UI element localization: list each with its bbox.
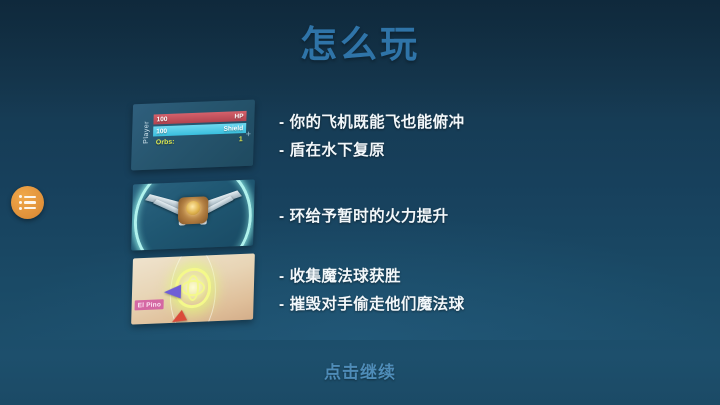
plus-icon: + [246, 130, 252, 139]
instruction-text: 摧毁对手偷走他们魔法球 [290, 296, 465, 313]
list-menu-icon [19, 193, 36, 212]
instruction-line: -你的飞机既能飞也能俯冲 [279, 110, 464, 132]
instruction-text: 你的飞机既能飞也能俯冲 [290, 114, 465, 131]
instruction-line: -收集魔法球获胜 [279, 264, 464, 286]
menu-button[interactable] [11, 186, 44, 219]
instruction-lines: -你的飞机既能飞也能俯冲 -盾在水下复原 [279, 110, 464, 160]
hud-hp-value: 100 [156, 115, 167, 122]
bullet-dash: - [279, 268, 285, 285]
bullet-dash: - [279, 208, 285, 225]
page-title: 怎么玩 [0, 14, 720, 68]
instruction-row: El Pino -收集魔法球获胜 -摧毁对手偷走他们魔法球 [128, 252, 464, 326]
bullet-dash: - [279, 114, 285, 131]
hud-shield-value: 100 [156, 127, 167, 134]
hud-orbs-value: 1 [239, 136, 243, 143]
player-hud-thumbnail: Player 100 HP 100 Shield Orbs: 1 [128, 98, 260, 172]
instruction-text: 盾在水下复原 [290, 142, 385, 159]
orb-minimap-thumbnail: El Pino [128, 252, 260, 326]
instruction-lines: -收集魔法球获胜 -摧毁对手偷走他们魔法球 [279, 264, 464, 314]
instruction-line: -环给予暂时的火力提升 [279, 204, 449, 226]
hud-orbs-row: Orbs: 1 [153, 135, 246, 147]
instruction-row: -环给予暂时的火力提升 [128, 178, 449, 252]
continue-button[interactable]: 点击继续 [0, 358, 720, 383]
ally-marker-icon [164, 284, 181, 299]
bullet-dash: - [279, 142, 285, 159]
instruction-row: Player 100 HP 100 Shield Orbs: 1 [128, 98, 464, 172]
bullet-dash: - [279, 296, 285, 313]
instruction-text: 环给予暂时的火力提升 [290, 208, 449, 225]
ring-powerup-thumbnail [128, 178, 260, 252]
instruction-line: -盾在水下复原 [279, 138, 464, 160]
how-to-play-screen[interactable]: 怎么玩 Player 100 HP 100 [0, 0, 720, 405]
instruction-line: -摧毁对手偷走他们魔法球 [279, 292, 464, 314]
hud-hp-label: HP [234, 113, 243, 120]
player-plane-icon [147, 190, 240, 234]
instruction-text: 收集魔法球获胜 [290, 268, 401, 285]
hud-player-label: Player [143, 115, 151, 151]
player-name-tag: El Pino [135, 299, 165, 310]
hud-shield-label: Shield [224, 125, 244, 133]
instruction-lines: -环给予暂时的火力提升 [279, 204, 449, 226]
hud-orbs-label: Orbs: [156, 139, 175, 147]
